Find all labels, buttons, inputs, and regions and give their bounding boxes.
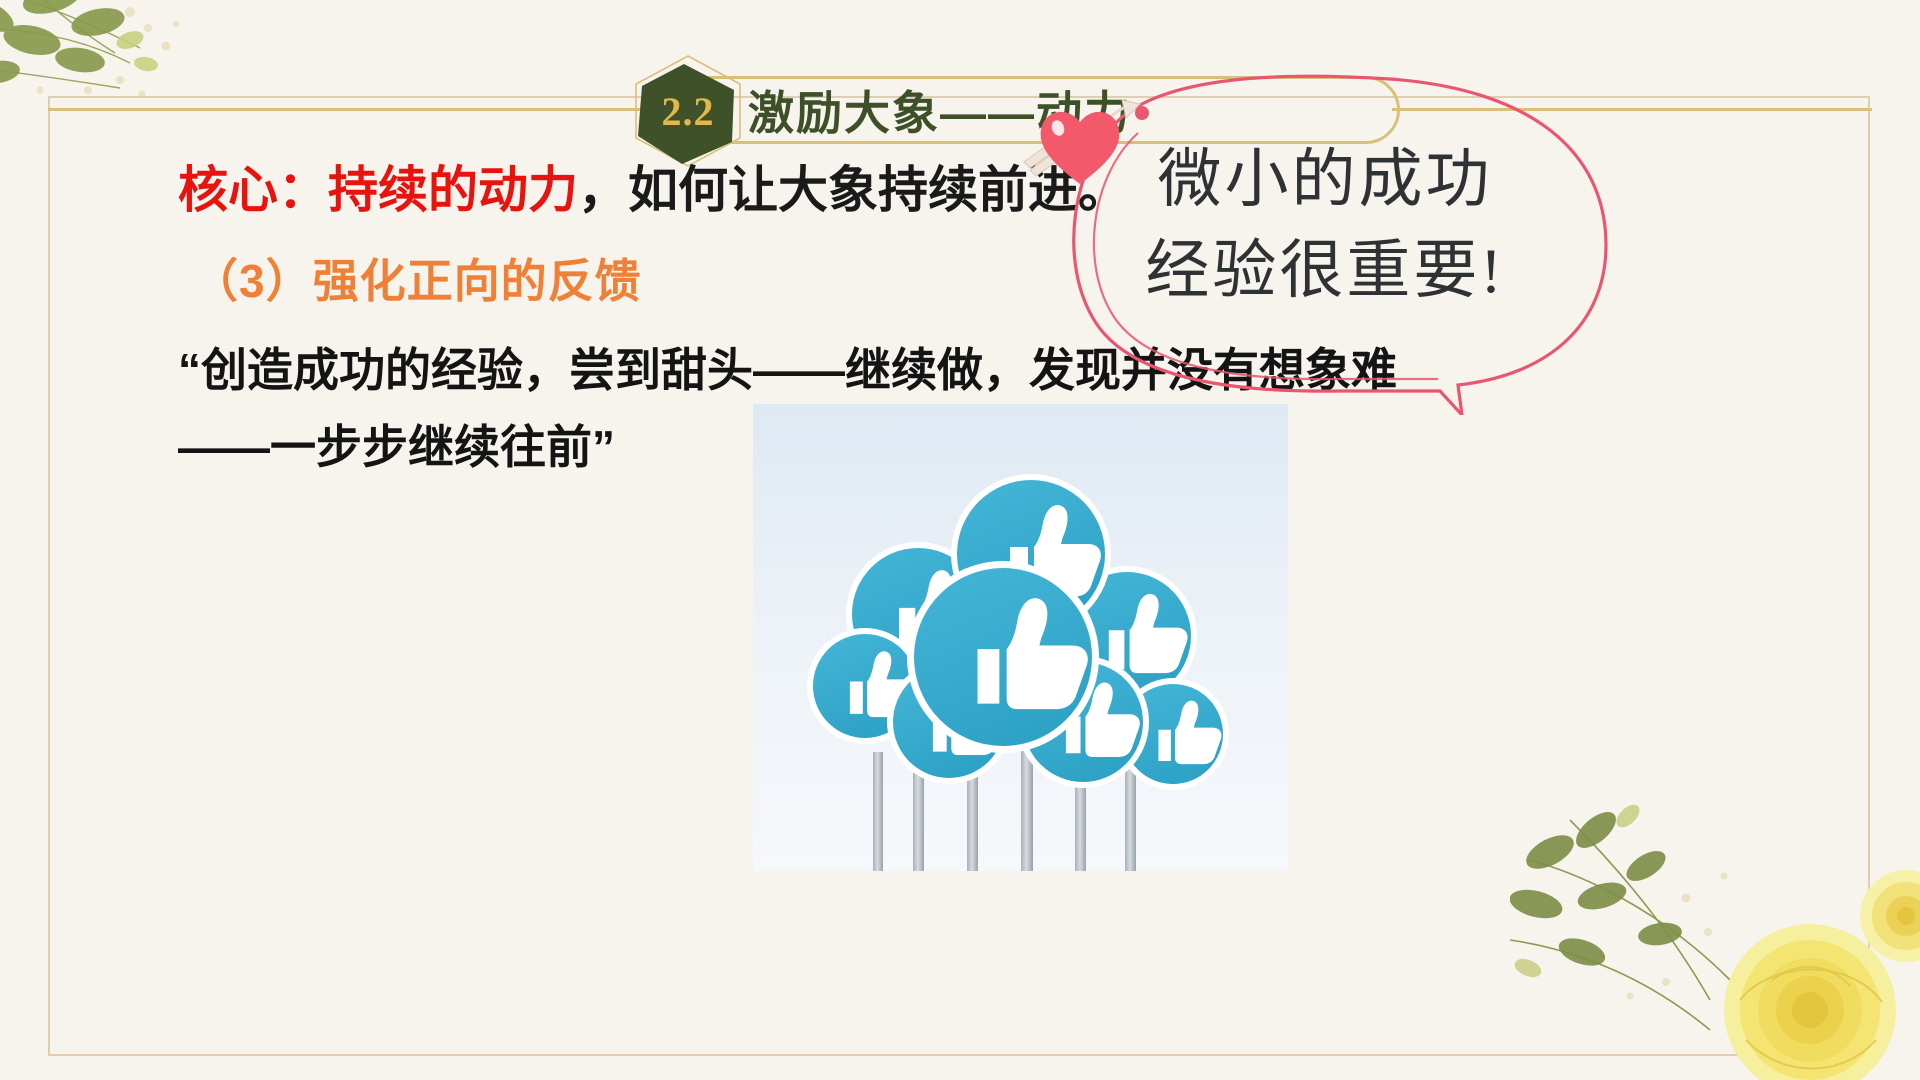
callout-line-1: 微小的成功 <box>1090 135 1560 226</box>
subheading: （3）强化正向的反馈 <box>192 245 642 311</box>
title-rule-left <box>48 108 648 111</box>
section-number: 2.2 <box>628 52 748 170</box>
floral-bottom-right-decoration <box>1510 800 1920 1080</box>
heart-with-arrow-icon <box>1022 88 1152 200</box>
core-statement-highlight: 核心：持续的动力 <box>178 162 578 218</box>
slide: 2.2 激励大象——动力 核心：持续的动力，如何让大象持续前进。 （3）强化正向… <box>0 0 1920 1080</box>
callout-line-2: 经验很重要! <box>1090 226 1560 317</box>
core-statement: 核心：持续的动力，如何让大象持续前进。 <box>178 160 1128 220</box>
floral-top-left-decoration <box>0 0 310 178</box>
thumbs-up-illustration <box>753 404 1288 871</box>
callout-text: 微小的成功 经验很重要! <box>1090 135 1560 317</box>
